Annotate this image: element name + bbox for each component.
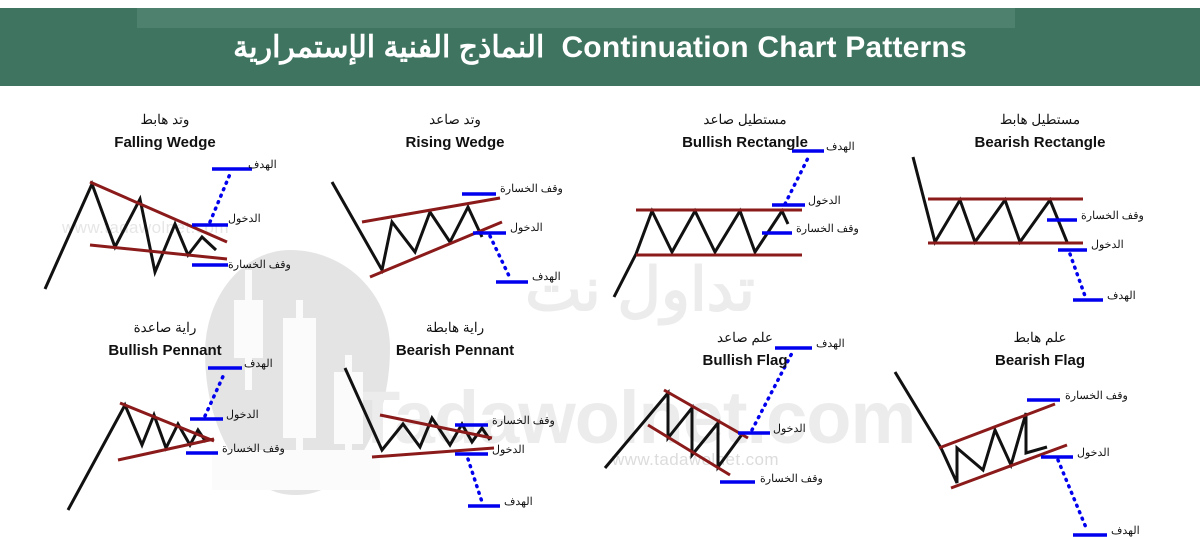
label-stop-loss: وقف الخسارة: [500, 182, 563, 195]
label-entry: الدخول: [510, 221, 543, 234]
label-stop-loss: وقف الخسارة: [228, 258, 291, 271]
label-target: الهدف: [826, 140, 855, 153]
pattern-title-ar: وتد هابط: [20, 112, 310, 128]
page-title: Continuation Chart Patterns النماذج الفن…: [0, 8, 1200, 86]
price-line: [895, 372, 1047, 483]
label-entry: الدخول: [773, 422, 806, 435]
label-target: الهدف: [1107, 289, 1136, 302]
projection-arrow: [1058, 460, 1087, 530]
header-banner: Continuation Chart Patterns النماذج الفن…: [0, 8, 1200, 86]
pattern-bearish-pennant: راية هابطة Bearish Pennant وقف الخسارة ا…: [310, 320, 600, 520]
pattern-title-ar: وتد صاعد: [310, 112, 600, 128]
projection-arrow: [785, 156, 809, 204]
pattern-title-en: Bearish Pennant: [310, 342, 600, 359]
label-target: الهدف: [244, 357, 273, 370]
label-entry: الدخول: [1077, 446, 1110, 459]
label-target: الهدف: [1111, 524, 1140, 537]
upper-trendline: [664, 390, 748, 438]
projection-arrow: [468, 459, 482, 502]
upper-trendline: [120, 403, 214, 441]
pattern-title-ar: علم صاعد: [600, 330, 890, 346]
pattern-title-en: Bullish Flag: [600, 352, 890, 369]
pattern-title-ar: مستطيل صاعد: [600, 112, 890, 128]
label-target: الهدف: [532, 270, 561, 283]
label-entry: الدخول: [1091, 238, 1124, 251]
label-stop-loss: وقف الخسارة: [760, 472, 823, 485]
pattern-title-en: Bearish Flag: [895, 352, 1185, 369]
price-line: [68, 405, 206, 510]
upper-trendline: [362, 198, 500, 222]
pattern-title-en: Falling Wedge: [20, 134, 310, 151]
pattern-falling-wedge: وتد هابط Falling Wedge الهدف الدخول وقف …: [20, 112, 310, 302]
price-line: [332, 182, 482, 270]
projection-arrow: [490, 236, 510, 278]
price-line: [605, 393, 743, 468]
lower-trendline: [90, 245, 227, 259]
label-entry: الدخول: [226, 408, 259, 421]
infographic-root: Continuation Chart Patterns النماذج الفن…: [0, 0, 1200, 535]
pattern-bearish-rectangle: مستطيل هابط Bearish Rectangle وقف الخسار…: [895, 112, 1185, 307]
label-stop-loss: وقف الخسارة: [1081, 209, 1144, 222]
pattern-title-ar: راية هابطة: [310, 320, 600, 336]
label-entry: الدخول: [228, 212, 261, 225]
pattern-bullish-pennant: راية صاعدة Bullish Pennant الهدف الدخول …: [20, 320, 310, 520]
label-stop-loss: وقف الخسارة: [222, 442, 285, 455]
projection-arrow: [1070, 254, 1085, 296]
label-stop-loss: وقف الخسارة: [492, 414, 555, 427]
label-entry: الدخول: [808, 194, 841, 207]
pattern-title-ar: راية صاعدة: [20, 320, 310, 336]
label-target: الهدف: [816, 337, 845, 350]
price-line: [345, 368, 490, 450]
projection-arrow: [205, 372, 225, 416]
pattern-title-en: Bearish Rectangle: [895, 134, 1185, 151]
upper-trendline: [939, 404, 1055, 448]
bullish-flag-chart: [600, 320, 890, 520]
pattern-bullish-rectangle: مستطيل صاعد Bullish Rectangle الهدف الدخ…: [600, 112, 890, 302]
label-stop-loss: وقف الخسارة: [796, 222, 859, 235]
label-target: الهدف: [248, 158, 277, 171]
pattern-bearish-flag: علم هابط Bearish Flag وقف الخسارة الدخول…: [895, 320, 1185, 530]
label-stop-loss: وقف الخسارة: [1065, 389, 1128, 402]
label-entry: الدخول: [492, 443, 525, 456]
label-target: الهدف: [504, 495, 533, 508]
pattern-bullish-flag: علم صاعد Bullish Flag الهدف الدخول وقف ا…: [600, 320, 890, 520]
pattern-title-ar: علم هابط: [895, 330, 1185, 346]
pattern-title-en: Rising Wedge: [310, 134, 600, 151]
pattern-rising-wedge: وتد صاعد Rising Wedge وقف الخسارة الدخول…: [310, 112, 600, 302]
lower-trendline: [118, 439, 214, 460]
pattern-title-ar: مستطيل هابط: [895, 112, 1185, 128]
lower-trendline: [951, 445, 1067, 488]
projection-arrow: [210, 174, 230, 222]
